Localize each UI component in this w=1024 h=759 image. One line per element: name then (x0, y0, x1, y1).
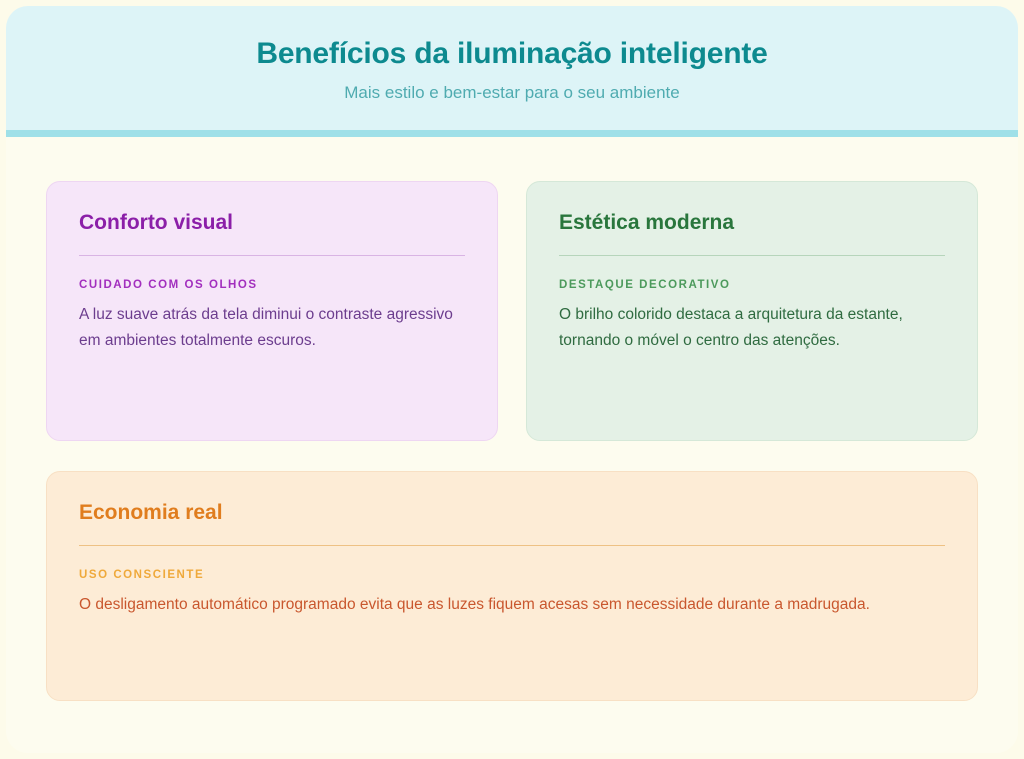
cards-container: Conforto visual CUIDADO COM OS OLHOS A l… (6, 137, 1018, 753)
card-title: Conforto visual (79, 210, 465, 235)
card-title: Economia real (79, 500, 945, 525)
card-body-text: A luz suave atrás da tela diminui o cont… (79, 302, 465, 355)
card-divider (79, 545, 945, 546)
page-subtitle: Mais estilo e bem-estar para o seu ambie… (46, 83, 978, 103)
page-header: Benefícios da iluminação inteligente Mai… (6, 6, 1018, 130)
card-eyebrow-label: DESTAQUE DECORATIVO (559, 279, 945, 293)
card-body-text: O brilho colorido destaca a arquitetura … (559, 302, 945, 355)
card-body-text: O desligamento automático programado evi… (79, 592, 945, 619)
card-divider (79, 255, 465, 256)
card-title: Estética moderna (559, 210, 945, 235)
card-conforto-visual: Conforto visual CUIDADO COM OS OLHOS A l… (46, 181, 498, 441)
card-divider (559, 255, 945, 256)
header-accent-bar (6, 130, 1018, 137)
card-eyebrow-label: CUIDADO COM OS OLHOS (79, 279, 465, 293)
cards-row-top: Conforto visual CUIDADO COM OS OLHOS A l… (46, 181, 978, 441)
card-estetica-moderna: Estética moderna DESTAQUE DECORATIVO O b… (526, 181, 978, 441)
page-frame: Benefícios da iluminação inteligente Mai… (6, 6, 1018, 753)
card-economia-real: Economia real USO CONSCIENTE O desligame… (46, 471, 978, 701)
page-title: Benefícios da iluminação inteligente (46, 36, 978, 71)
cards-row-bottom: Economia real USO CONSCIENTE O desligame… (46, 471, 978, 701)
card-eyebrow-label: USO CONSCIENTE (79, 569, 945, 583)
